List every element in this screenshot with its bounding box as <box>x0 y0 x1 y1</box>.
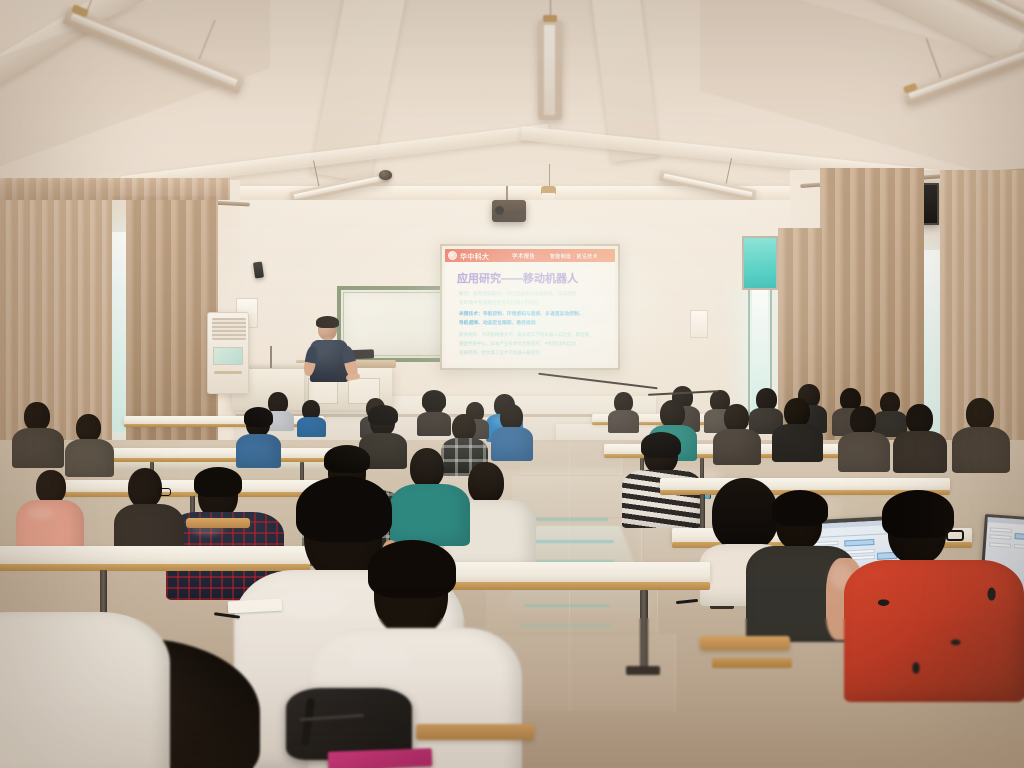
chair-backrest <box>416 724 534 740</box>
projector-lens <box>495 206 504 215</box>
desk-leg <box>640 590 648 670</box>
slide-body-line-5: 研究机构：卡内基梅隆大学、麻省理工学院机器人实验室、斯坦福 <box>459 332 589 338</box>
chair-seat <box>712 658 792 668</box>
wall-panel-front-right <box>690 310 708 338</box>
laptop-cell <box>845 549 875 555</box>
banner-text-3: 智能制造 · 前沿技术 <box>550 253 598 260</box>
laptop-cell <box>990 527 1012 533</box>
banner-text-1: 华中科大 <box>460 252 489 262</box>
ceiling-projector <box>492 200 526 222</box>
slide-body-line-2: 化环境中完成特定任务的机器人的研究 <box>459 300 539 306</box>
floor-reflection-line <box>520 624 612 627</box>
slide-body-line-3: 关键技术：导航控制、环境感知与建模、多通道运动控制、 <box>459 311 583 317</box>
projection-screen: 华中科大 学术报告 智能制造 · 前沿技术 应用研究——移动机器人 概念：具有感… <box>440 244 620 370</box>
slide-body-line-7: 化研究所、哈尔滨工业大学机器人研究所 <box>459 350 540 356</box>
laptop-titlebar <box>988 517 1024 526</box>
pink-notebook <box>328 748 433 768</box>
floor-standing-air-conditioner <box>207 312 249 394</box>
desk-edge <box>440 582 710 590</box>
curtain-left-valance <box>0 178 230 200</box>
backpack-strap <box>301 698 316 747</box>
slide-body-line-1: 概念：具有感知能力、可以自主规划运动路径，在非结构 <box>459 291 576 297</box>
slide-body-line-6: 德国宇航中心、日本产业技术综合研究所、中科院沈阳自动 <box>459 341 576 347</box>
laptop-cell <box>989 534 1011 540</box>
laptop-cell <box>989 542 1011 548</box>
banner-text-2: 学术报告 <box>512 252 535 260</box>
fluorescent-tube-light-center <box>538 20 564 120</box>
laptop-selected-cell <box>1014 533 1024 541</box>
desk-edge <box>0 564 310 571</box>
laptop-cell <box>1014 544 1024 550</box>
dome-security-camera-icon <box>379 170 392 180</box>
floor-tile <box>570 634 676 712</box>
ac-notice-poster <box>213 347 243 365</box>
slide-title: 应用研究——移动机器人 <box>457 270 578 286</box>
presenter-hair <box>316 316 339 328</box>
window-teal-panel <box>742 236 778 290</box>
microphone-stand <box>270 346 272 368</box>
chair-backrest <box>186 518 250 528</box>
university-seal-icon <box>448 251 457 260</box>
slide-body-line-4: 导航避障、动态定位跟踪、路径规划 <box>459 320 536 326</box>
desk-edge <box>124 424 324 427</box>
ac-vent <box>212 318 246 340</box>
desk-foreground-center <box>440 562 710 584</box>
desk-foreground-left <box>0 546 310 566</box>
presentation-slide: 华中科大 学术报告 智能制造 · 前沿技术 应用研究——移动机器人 概念：具有感… <box>445 249 615 365</box>
whiteboard-surface <box>343 292 453 356</box>
laptop-selected-cell <box>844 539 874 547</box>
desk-foot <box>626 666 660 675</box>
chair-backrest <box>700 636 790 650</box>
lecture-hall-photo: 华中科大 学术报告 智能制造 · 前沿技术 应用研究——移动机器人 概念：具有感… <box>0 0 1024 768</box>
